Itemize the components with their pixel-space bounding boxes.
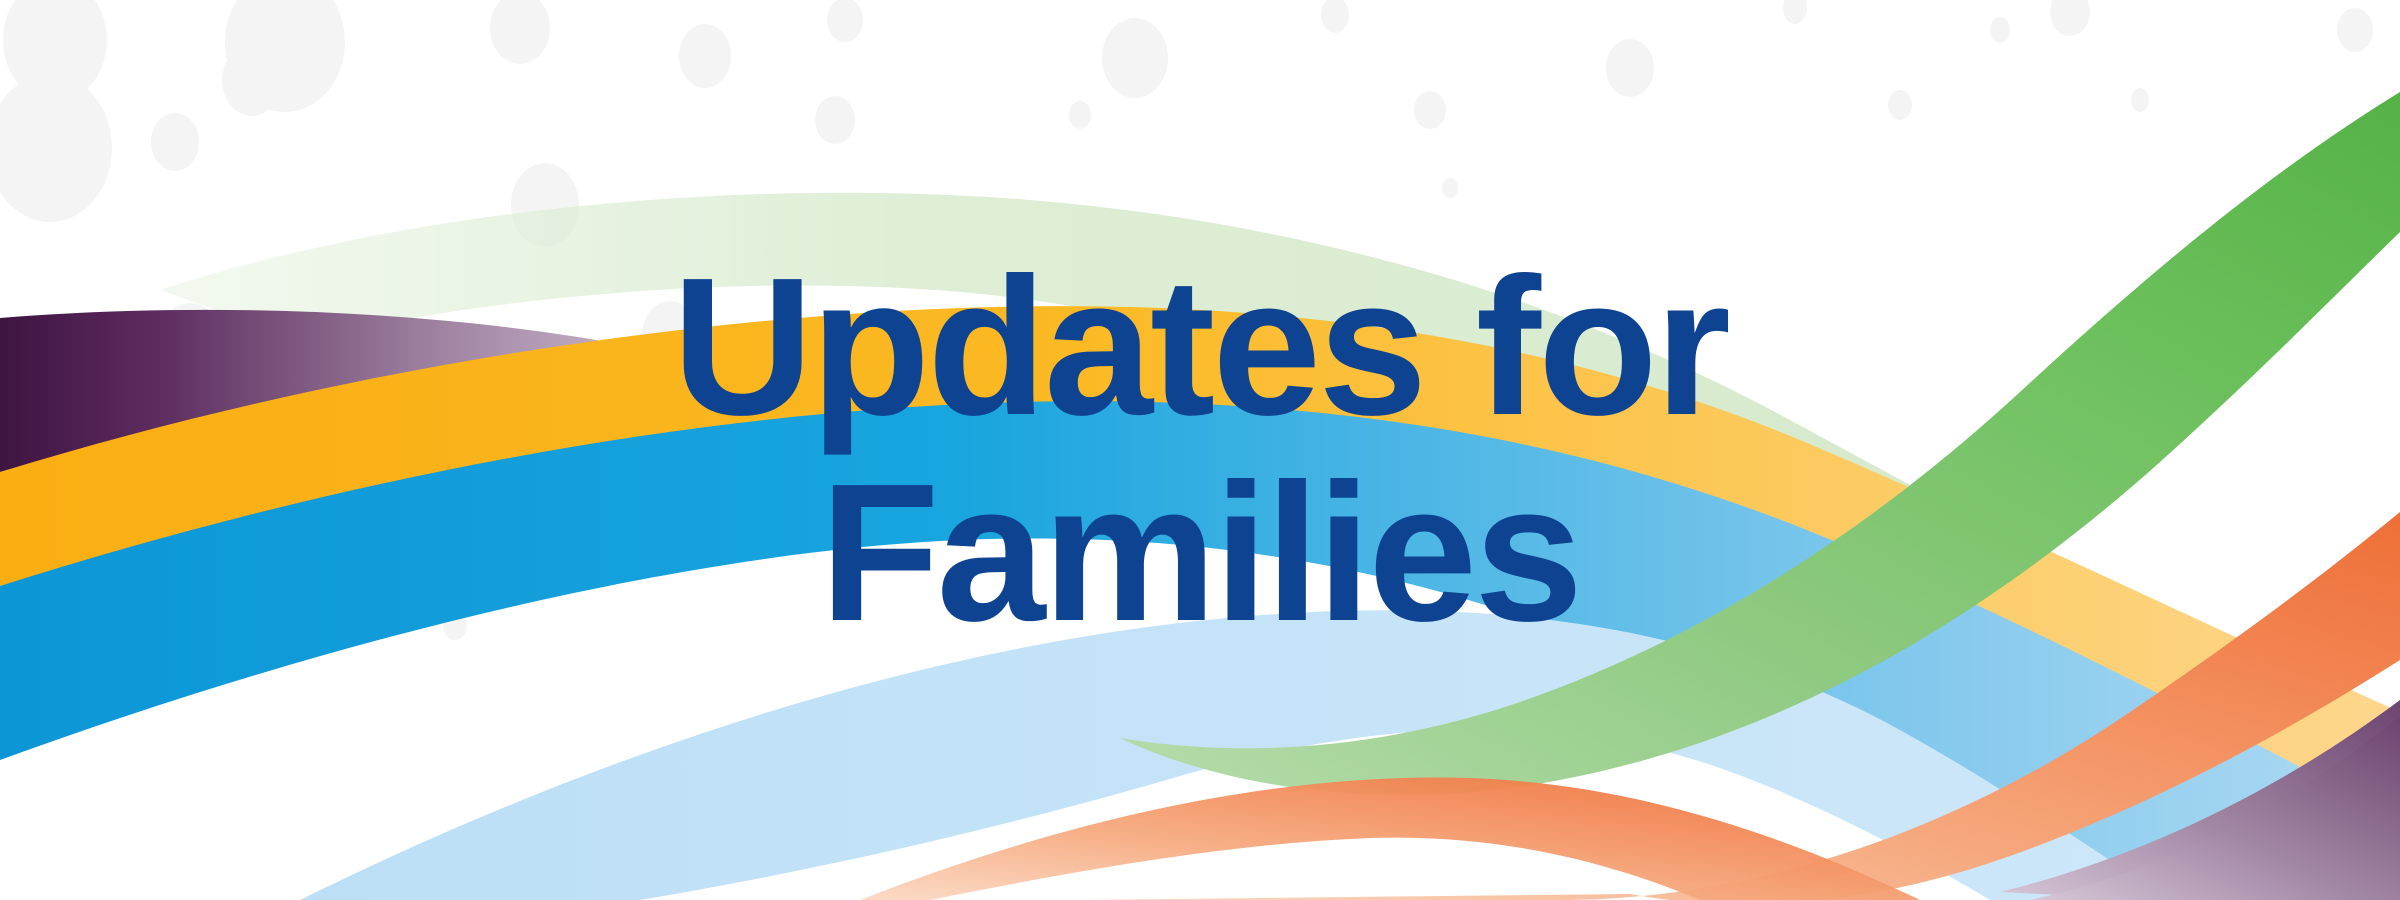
decorative-wave-artwork [0,0,2400,900]
banner-root: Updates for Families [0,0,2400,900]
